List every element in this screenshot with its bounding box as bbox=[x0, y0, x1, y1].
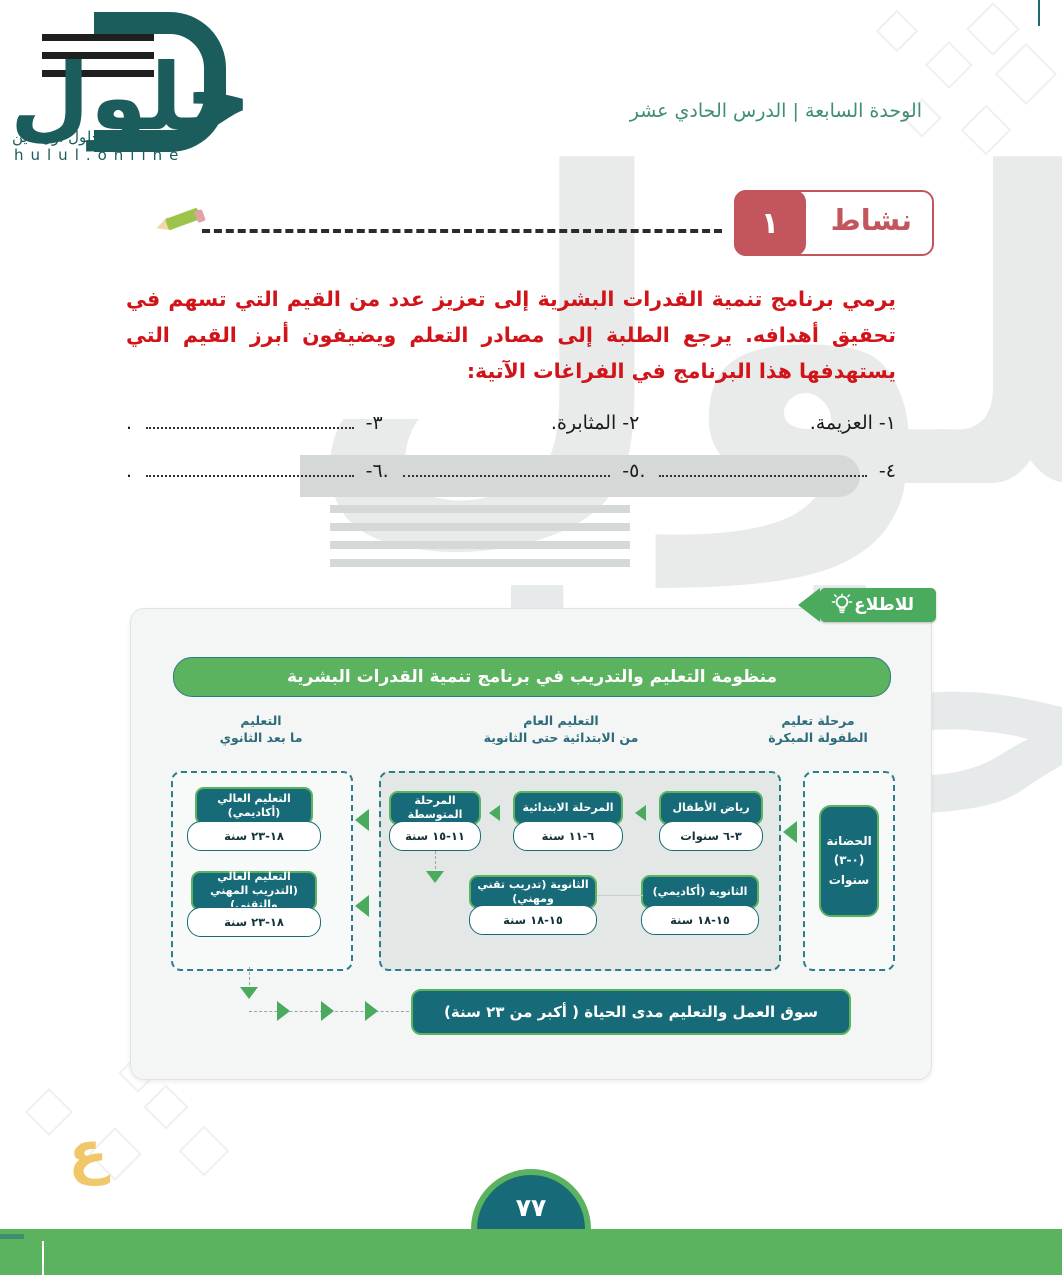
info-tab-lil-ittila[interactable]: للاطلاع bbox=[820, 588, 936, 622]
answer-number: ٤- bbox=[879, 460, 896, 482]
watermark-band-2 bbox=[330, 505, 630, 513]
answer-blank-input[interactable] bbox=[403, 475, 611, 477]
chevron-right-icon-3 bbox=[365, 1001, 378, 1021]
answer-item-6[interactable]: ٦- . bbox=[126, 460, 383, 482]
node-intermediate: المرحلة المتوسطة bbox=[389, 791, 481, 825]
answer-item-2: ٢- المثابرة. bbox=[383, 412, 640, 434]
node-secondary-technical: الثانوية (تدريب تقني ومهني) bbox=[469, 875, 597, 909]
footer-left-tick bbox=[0, 1234, 24, 1239]
node-primary-age: ٦-١١ سنة bbox=[513, 821, 623, 851]
node-secondary-academic: الثانوية (أكاديمي) bbox=[641, 875, 759, 909]
logo-subtitle-ar: الحلول أون لاين bbox=[12, 128, 110, 146]
chevron-right-icon-1 bbox=[277, 1001, 290, 1021]
watermark-band-4 bbox=[330, 541, 630, 549]
node-secondary-technical-age: ١٥-١٨ سنة bbox=[469, 905, 597, 935]
watermark-band-3 bbox=[330, 523, 630, 531]
answer-blank-input[interactable] bbox=[146, 475, 354, 477]
answer-blank-input[interactable] bbox=[659, 475, 867, 477]
logo-line-1 bbox=[42, 34, 154, 41]
answer-number: ٣- bbox=[366, 412, 383, 434]
pencil-icon bbox=[156, 205, 202, 239]
node-labor-market: سوق العمل والتعليم مدى الحياة ( أكبر من … bbox=[411, 989, 851, 1035]
decorative-diamonds-top bbox=[762, 0, 1062, 190]
page-number: ٧٧ bbox=[471, 1169, 591, 1229]
answer-value: المثابرة. bbox=[551, 412, 616, 434]
answer-period: . bbox=[383, 460, 389, 482]
answers-row-1: ١- العزيمة. ٢- المثابرة. ٣- . bbox=[126, 412, 896, 434]
answer-item-1: ١- العزيمة. bbox=[639, 412, 896, 434]
node-nursery: الحضانة (٠-٣) سنوات bbox=[819, 805, 879, 917]
footer-bar bbox=[0, 1229, 1062, 1275]
activity-badge: نشاط ١ bbox=[734, 190, 934, 256]
column-header-post-secondary: التعليم ما بعد الثانوي bbox=[171, 713, 351, 747]
diagram-card: منظومة التعليم والتدريب في برنامج تنمية … bbox=[130, 608, 932, 1080]
answer-period: . bbox=[126, 412, 132, 434]
node-kindergarten: رياض الأطفال bbox=[659, 791, 763, 825]
node-higher-vocational: التعليم العالي (التدريب المهني والتقني) bbox=[191, 871, 317, 911]
chevron-right-icon-2 bbox=[321, 1001, 334, 1021]
watermark-band-5 bbox=[330, 559, 630, 567]
answer-period: . bbox=[639, 460, 645, 482]
ornament-icon: ع bbox=[44, 1123, 108, 1187]
answer-number: ١- bbox=[879, 412, 896, 434]
answer-item-4[interactable]: ٤- . bbox=[639, 460, 896, 482]
activity-paragraph: يرمي برنامج تنمية القدرات البشرية إلى تع… bbox=[126, 282, 896, 390]
node-kindergarten-age: ٣-٦ سنوات bbox=[659, 821, 763, 851]
answer-value: العزيمة. bbox=[810, 412, 873, 434]
answer-period: . bbox=[126, 460, 132, 482]
activity-dashed-rule bbox=[202, 229, 722, 233]
node-higher-academic-age: ١٨-٢٣ سنة bbox=[187, 821, 321, 851]
chevron-down-icon-higher bbox=[240, 987, 258, 999]
answer-number: ٥- bbox=[622, 460, 639, 482]
node-secondary-academic-age: ١٥-١٨ سنة bbox=[641, 905, 759, 935]
column-header-general-education: التعليم العام من الابتدائية حتى الثانوية bbox=[411, 713, 711, 747]
node-primary: المرحلة الابتدائية bbox=[513, 791, 623, 825]
chevron-down-icon-intermediate bbox=[426, 871, 444, 883]
node-nursery-unit: سنوات bbox=[829, 871, 869, 890]
chevron-left-icon-kg-to-primary bbox=[635, 805, 646, 821]
corner-rule bbox=[1038, 0, 1040, 26]
answer-number: ٢- bbox=[622, 412, 639, 434]
chevron-left-icon-nursery-to-kg bbox=[783, 821, 797, 843]
activity-number: ١ bbox=[734, 190, 806, 256]
lightbulb-icon bbox=[830, 593, 854, 617]
node-intermediate-age: ١١-١٥ سنة bbox=[389, 821, 481, 851]
logo-subtitle-en: hulul.online bbox=[14, 146, 185, 164]
chevron-left-icon-primary-to-intermediate bbox=[489, 805, 500, 821]
answer-blank-input[interactable] bbox=[146, 427, 354, 429]
connector-secondary-link bbox=[597, 895, 643, 896]
answers-row-2: ٤- . ٥- . ٦- . bbox=[126, 460, 896, 482]
chevron-left-icon bbox=[798, 588, 820, 622]
column-header-early-childhood: مرحلة تعليم الطفولة المبكرة bbox=[743, 713, 893, 747]
info-tab-label: للاطلاع bbox=[854, 595, 914, 615]
node-nursery-name: الحضانة bbox=[826, 832, 871, 851]
unit-lesson-header: الوحدة السابعة | الدرس الحادي عشر bbox=[630, 100, 922, 122]
node-nursery-range: (٠-٣) bbox=[834, 851, 865, 870]
node-higher-academic: التعليم العالي (أكاديمي) bbox=[195, 787, 313, 825]
answer-item-3[interactable]: ٣- . bbox=[126, 412, 383, 434]
node-higher-vocational-age: ١٨-٢٣ سنة bbox=[187, 907, 321, 937]
answer-number: ٦- bbox=[366, 460, 383, 482]
chevron-left-icon-general-to-higher-bottom bbox=[355, 895, 369, 917]
activity-label: نشاط bbox=[831, 203, 912, 237]
footer-left-divider bbox=[42, 1241, 44, 1275]
answer-item-5[interactable]: ٥- . bbox=[383, 460, 640, 482]
chevron-left-icon-general-to-higher-top bbox=[355, 809, 369, 831]
diagram-title: منظومة التعليم والتدريب في برنامج تنمية … bbox=[173, 657, 891, 697]
